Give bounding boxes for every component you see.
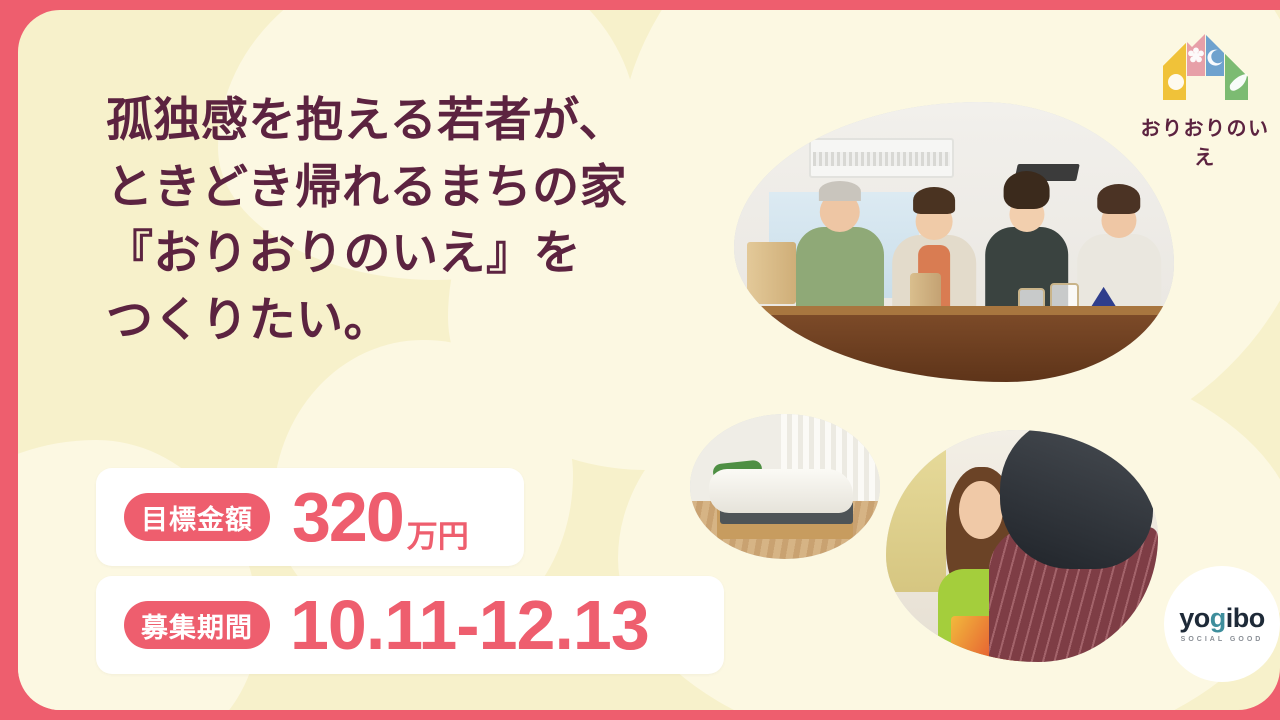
photo-conversation — [886, 430, 1158, 662]
photo-group-kitchen — [734, 102, 1174, 382]
house-logo-icon — [1130, 26, 1280, 112]
content-panel: 孤独感を抱える若者が、 ときどき帰れるまちの家 『おりおりのいえ』を つくりたい… — [18, 10, 1280, 710]
person-1 — [796, 186, 884, 315]
yogibo-suffix: ibo — [1226, 603, 1265, 633]
headline-line-1: 孤独感を抱える若者が、 — [106, 88, 726, 155]
goal-amount-unit: 万円 — [407, 511, 469, 556]
goal-amount-value: 320 — [292, 482, 403, 552]
headline-line-3: 『おりおりのいえ』を — [106, 221, 726, 288]
yogibo-accent-letter: g — [1210, 603, 1226, 633]
headline-line-4: つくりたい。 — [106, 288, 726, 355]
yogibo-prefix: yo — [1179, 603, 1210, 633]
headline: 孤独感を抱える若者が、 ときどき帰れるまちの家 『おりおりのいえ』を つくりたい… — [106, 88, 726, 355]
campaign-period-card: 募集期間 10.11-12.13 — [96, 576, 724, 674]
goal-amount-label: 目標金額 — [124, 493, 270, 541]
brand-logo: おりおりのいえ — [1130, 26, 1280, 148]
banner-root: 孤独感を抱える若者が、 ときどき帰れるまちの家 『おりおりのいえ』を つくりたい… — [0, 0, 1280, 720]
yogibo-sponsor-logo: yogibo SOCIAL GOOD — [1164, 566, 1280, 682]
headline-line-2: ときどき帰れるまちの家 — [106, 155, 726, 222]
goal-amount-card: 目標金額 320 万円 — [96, 468, 524, 566]
yogibo-tagline: SOCIAL GOOD — [1181, 636, 1264, 643]
campaign-period-value: 10.11-12.13 — [290, 590, 649, 660]
yogibo-wordmark: yogibo — [1179, 605, 1265, 632]
brand-logo-text: おりおりのいえ — [1130, 112, 1280, 170]
campaign-period-label: 募集期間 — [124, 601, 270, 649]
photo-bedroom — [690, 414, 880, 559]
